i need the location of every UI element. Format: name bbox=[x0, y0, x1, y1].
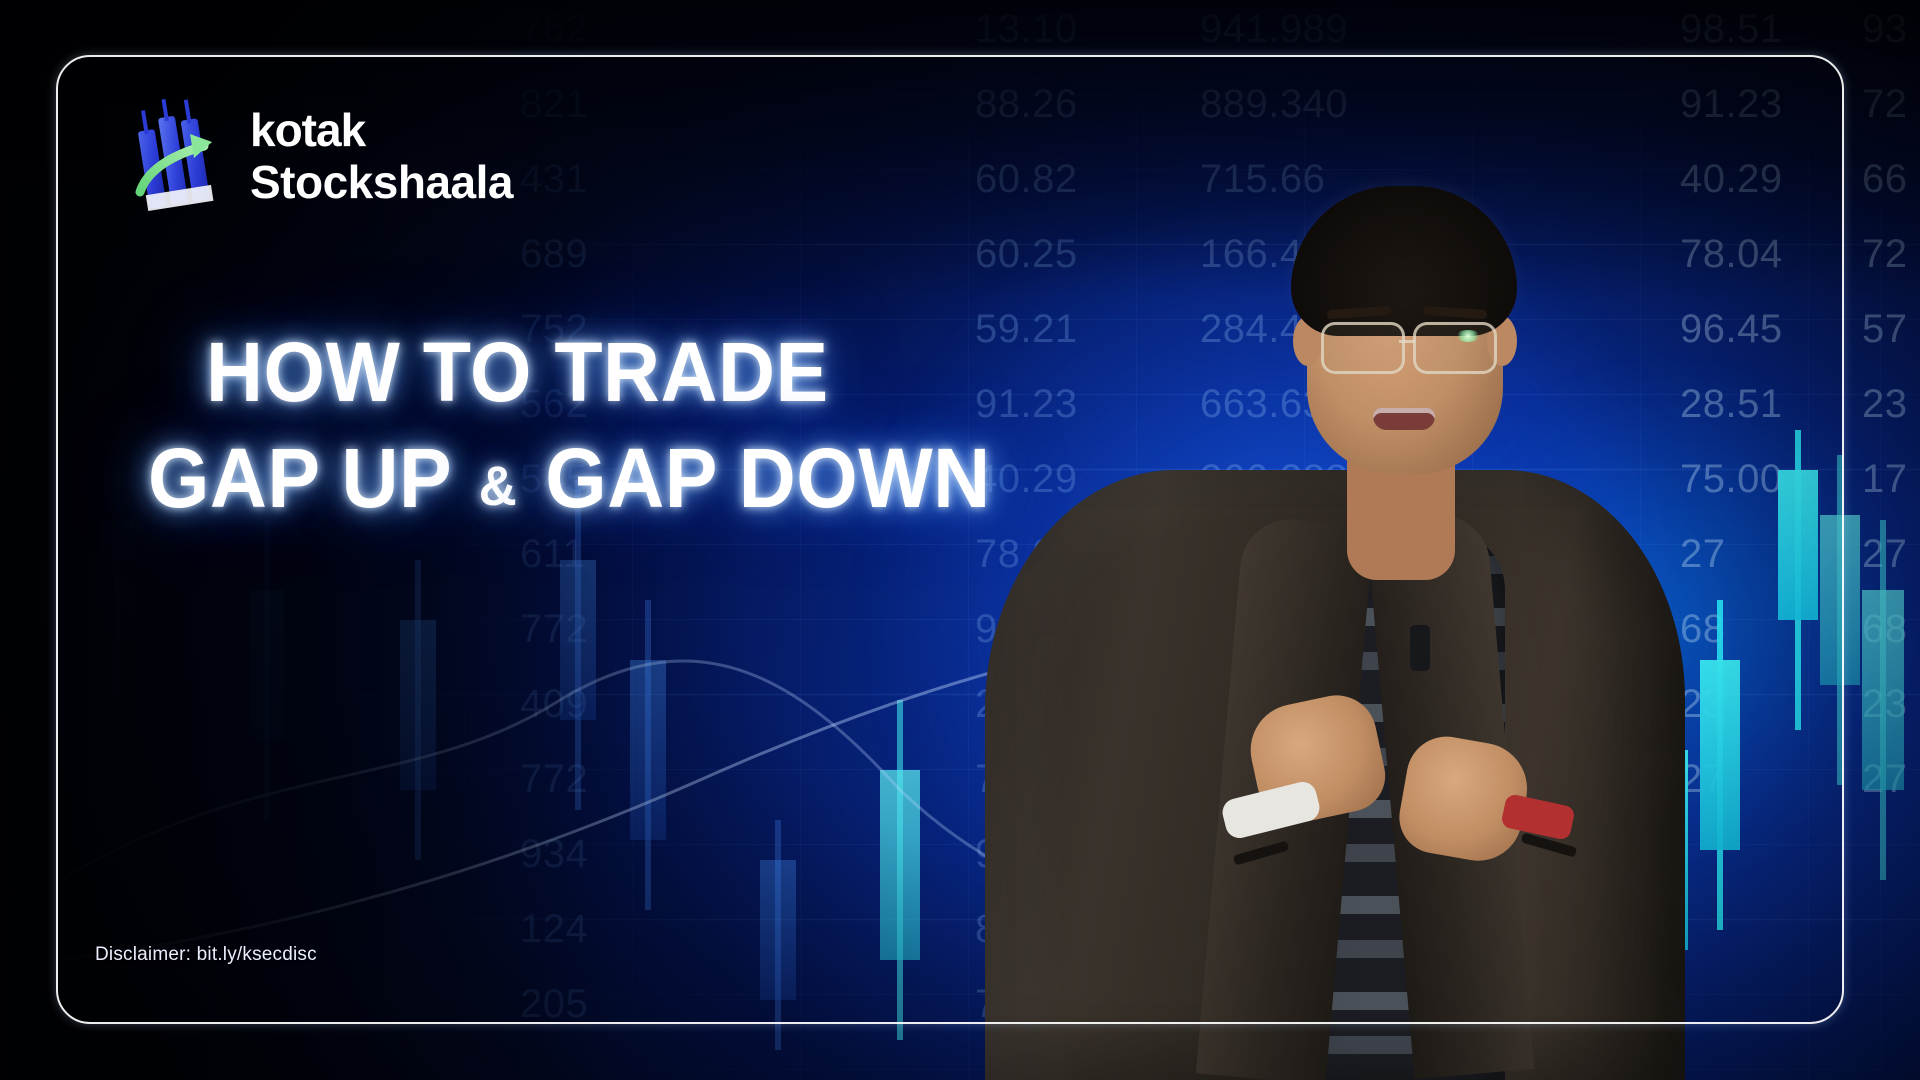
lapel-microphone bbox=[1410, 625, 1430, 671]
presenter-mouth bbox=[1373, 408, 1435, 430]
headline-line-1: HOW TO TRADE bbox=[206, 330, 979, 414]
headline-block: HOW TO TRADE GAP UP & GAP DOWN bbox=[148, 330, 1028, 520]
brand-logo-text: kotak Stockshaala bbox=[250, 107, 513, 205]
headline-gap-down: GAP DOWN bbox=[545, 431, 990, 525]
presenter-lens-glint bbox=[1455, 330, 1481, 342]
headline-ampersand: & bbox=[473, 454, 523, 517]
presenter-eyeglass-left bbox=[1321, 322, 1405, 374]
presenter-figure bbox=[955, 100, 1715, 1080]
video-thumbnail-canvas: 762 821 431 689 752 562 545 611 772 409 … bbox=[0, 0, 1920, 1080]
presenter-eyeglass-right bbox=[1413, 322, 1497, 374]
presenter-eyeglass-bridge bbox=[1399, 340, 1415, 343]
headline-gap-up: GAP UP bbox=[148, 431, 451, 525]
brand-name-kotak: kotak bbox=[250, 107, 513, 153]
headline-line-2: GAP UP & GAP DOWN bbox=[148, 436, 975, 520]
brand-logo: kotak Stockshaala bbox=[128, 96, 513, 216]
disclaimer-text: Disclaimer: bit.ly/ksecdisc bbox=[95, 944, 317, 966]
brand-name-stockshaala: Stockshaala bbox=[250, 159, 513, 205]
bar-chart-arrow-logo-icon bbox=[128, 96, 224, 216]
